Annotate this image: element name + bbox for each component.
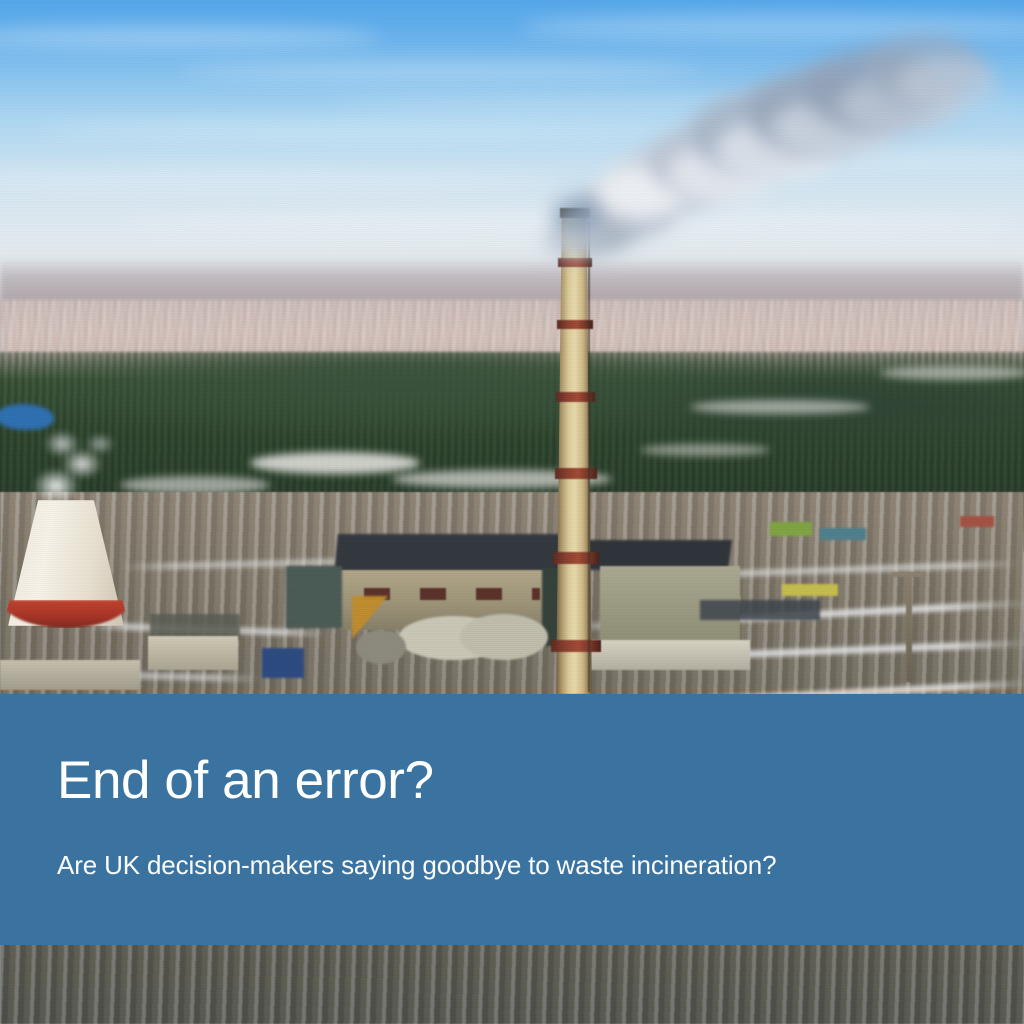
cloud-streak — [180, 62, 700, 80]
factory-wall — [148, 636, 238, 670]
storage-tank — [460, 614, 548, 660]
chimney-band — [558, 258, 592, 267]
depot-building — [782, 584, 838, 596]
chimney-cap — [560, 208, 590, 218]
snow-patch — [880, 366, 1024, 380]
snow-patch — [690, 400, 870, 414]
depot-building — [960, 516, 994, 527]
depot-building — [262, 648, 304, 678]
factory-tower-block — [286, 566, 342, 628]
banner-title: End of an error? — [57, 754, 434, 807]
incinerator-chimney — [556, 212, 592, 694]
promo-card: End of an error? Are UK decision-makers … — [0, 0, 1024, 1024]
crane — [352, 596, 404, 640]
chimney-band — [555, 468, 597, 479]
factory-roof — [334, 534, 572, 572]
factory-roof — [700, 600, 820, 620]
snow-patch — [250, 452, 420, 474]
cloud-streak — [40, 120, 740, 140]
title-banner: End of an error? Are UK decision-makers … — [0, 694, 1024, 945]
power-pylon — [906, 572, 912, 682]
factory-wall — [0, 660, 140, 690]
cloud-streak — [330, 96, 1024, 112]
snow-patch — [640, 444, 770, 456]
banner-subtitle: Are UK decision-makers saying goodbye to… — [57, 852, 776, 878]
chimney-ladder — [588, 222, 590, 692]
chimney-band — [553, 552, 599, 564]
depot-building — [820, 528, 866, 540]
depot-building — [770, 522, 812, 536]
chimney-band — [551, 640, 601, 652]
